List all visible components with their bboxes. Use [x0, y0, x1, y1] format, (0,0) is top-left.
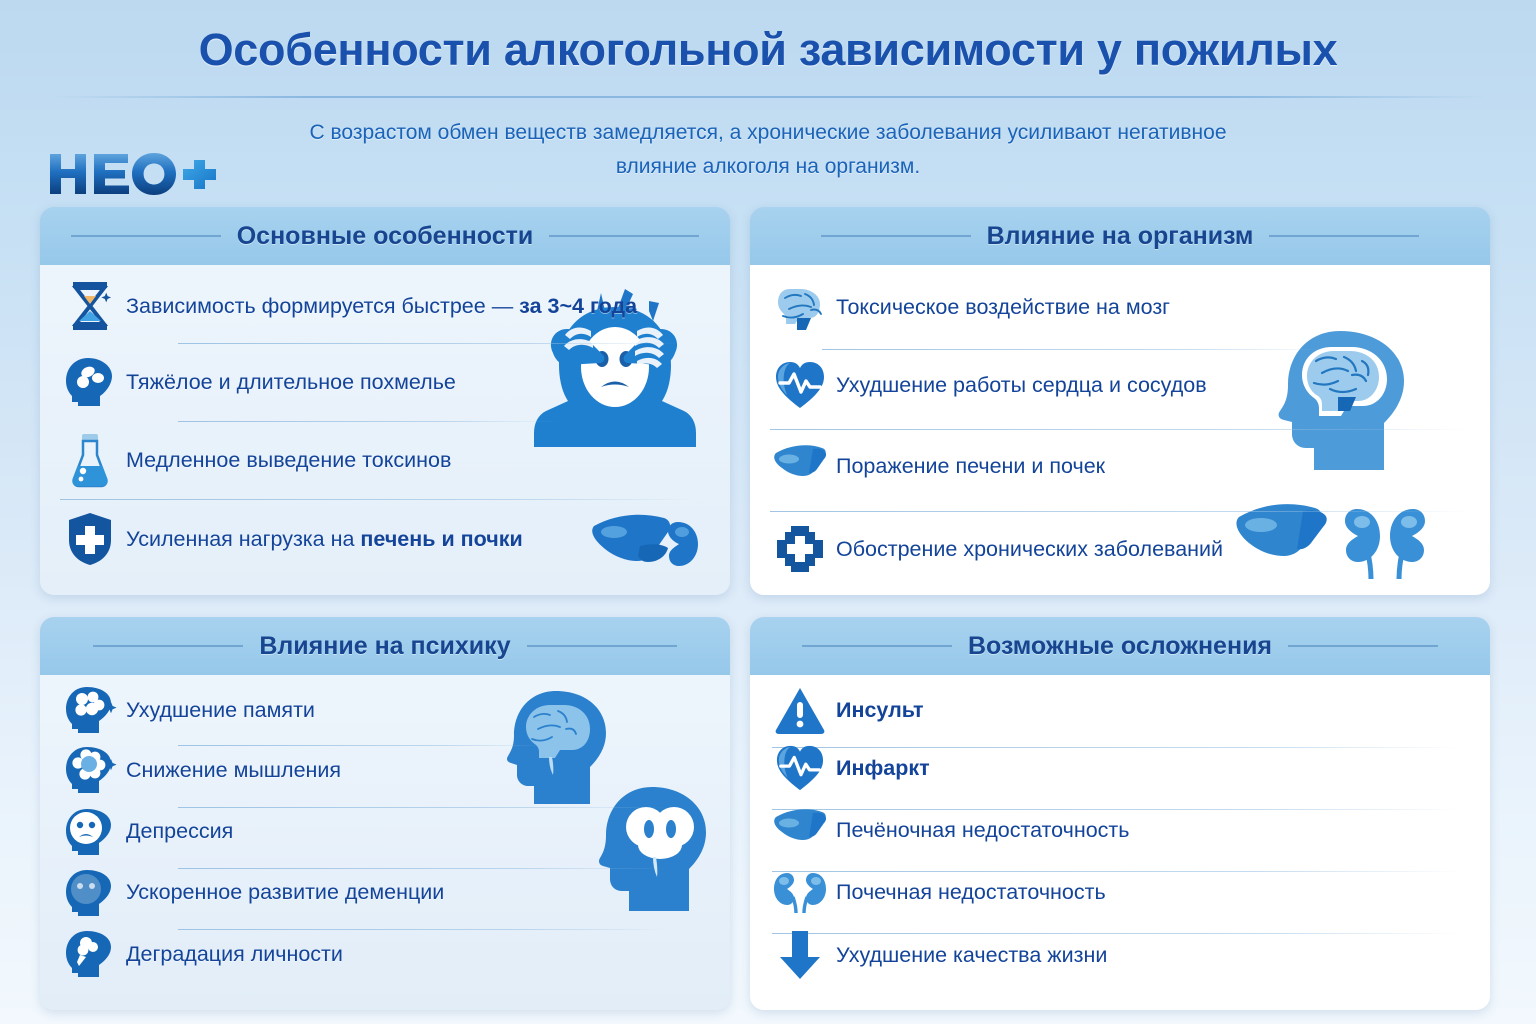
list-item: Поражение печени и почек — [750, 425, 1490, 507]
card-header: Влияние на организм — [750, 207, 1490, 265]
down-arrow-icon — [772, 927, 828, 983]
list-item-label: Снижение мышления — [126, 758, 341, 783]
header-rule-left — [821, 235, 971, 237]
card-body: Инсульт Инфаркт — [750, 675, 1490, 1010]
list-item-label: Токсическое воздействие на мозг — [836, 295, 1170, 320]
list-item-label: Инсульт — [836, 698, 924, 723]
list-item-label: Ухудшение качества жизни — [836, 943, 1107, 968]
head-degradation-icon — [62, 926, 118, 982]
feature-list: Инсульт Инфаркт — [750, 675, 1490, 987]
shield-cross-icon — [62, 511, 118, 567]
header-rule-right — [1269, 235, 1419, 237]
heart-pulse-icon — [772, 357, 828, 413]
medical-cross-icon — [772, 521, 828, 577]
header-rule-left — [93, 645, 243, 647]
flask-icon — [62, 432, 118, 488]
list-item: Деградация личности — [40, 923, 730, 985]
list-item: Обострение хронических заболеваний — [750, 507, 1490, 591]
page-subtitle: С возрастом обмен веществ замедляется, а… — [268, 116, 1268, 184]
card-header: Влияние на психику — [40, 617, 730, 675]
list-item: Ухудшение качества жизни — [750, 923, 1490, 987]
neo-plus-logo — [48, 150, 218, 198]
warning-triangle-icon — [772, 682, 828, 738]
list-item-label: Обострение хронических заболеваний — [836, 537, 1223, 562]
liver-icon — [772, 802, 828, 858]
list-item-label: Депрессия — [126, 819, 233, 844]
head-dementia-icon — [62, 865, 118, 921]
list-item: Печёночная недостаточность — [750, 799, 1490, 861]
card-psyche-effects: Влияние на психику — [40, 617, 730, 1010]
header-rule-right — [527, 645, 677, 647]
card-body-effects: Влияние на организм — [750, 207, 1490, 595]
card-header: Основные особенности — [40, 207, 730, 265]
list-item: Инсульт — [750, 675, 1490, 737]
card-title: Влияние на психику — [259, 632, 510, 661]
list-item-label: Печёночная недостаточность — [836, 818, 1129, 843]
card-body: Зависимость формируется быстрее — за 3~4… — [40, 265, 730, 595]
list-item-label: Ухудшение работы сердца и сосудов — [836, 373, 1207, 398]
head-pills-icon — [62, 354, 118, 410]
brain-icon — [772, 279, 828, 335]
list-item: Зависимость формируется быстрее — за 3~4… — [40, 265, 730, 343]
list-item-label: Поражение печени и почек — [836, 454, 1105, 479]
list-item: Ускоренное развитие деменции — [40, 862, 730, 923]
header-rule-right — [1288, 645, 1438, 647]
infographic-root: Особенности алкогольной зависимости у по… — [0, 0, 1536, 1024]
feature-list: Токсическое воздействие на мозг Ухудшени… — [750, 265, 1490, 591]
header-rule-right — [549, 235, 699, 237]
card-title: Основные особенности — [237, 222, 534, 251]
card-title: Влияние на организм — [987, 222, 1254, 251]
feature-list: Ухудшение памяти — [40, 675, 730, 985]
card-body: Ухудшение памяти — [40, 675, 730, 1010]
header-rule-left — [802, 645, 952, 647]
list-item-label: Почечная недостаточность — [836, 880, 1106, 905]
header-rule-left — [71, 235, 221, 237]
list-item-label: Ускоренное развитие деменции — [126, 880, 444, 905]
list-item-label: Зависимость формируется быстрее — за 3~4… — [126, 294, 637, 319]
card-title: Возможные осложнения — [968, 632, 1272, 661]
card-complications: Возможные осложнения Инсульт — [750, 617, 1490, 1010]
head-thinking-icon — [62, 742, 118, 798]
list-item: Инфаркт — [750, 737, 1490, 799]
list-item: Снижение мышления — [40, 739, 730, 801]
list-item-label: Тяжёлое и длительное похмелье — [126, 370, 456, 395]
list-item: Усиленная нагрузка на печень и почки — [40, 499, 730, 579]
heart-pulse-icon — [772, 740, 828, 796]
head-memory-icon — [62, 682, 118, 738]
list-item-label: Инфаркт — [836, 756, 930, 781]
liver-icon — [772, 438, 828, 494]
list-item: Тяжёлое и длительное похмелье — [40, 343, 730, 421]
list-item: Почечная недостаточность — [750, 861, 1490, 923]
list-item-label: Усиленная нагрузка на печень и почки — [126, 527, 523, 552]
list-item: Ухудшение работы сердца и сосудов — [750, 345, 1490, 425]
hourglass-icon — [62, 278, 118, 334]
list-item: Токсическое воздействие на мозг — [750, 265, 1490, 345]
kidneys-icon — [772, 864, 828, 920]
card-header: Возможные осложнения — [750, 617, 1490, 675]
list-item-label: Медленное выведение токсинов — [126, 448, 451, 473]
list-item: Медленное выведение токсинов — [40, 421, 730, 499]
feature-list: Зависимость формируется быстрее — за 3~4… — [40, 265, 730, 579]
card-main-features: Основные особенности — [40, 207, 730, 595]
list-item: Ухудшение памяти — [40, 675, 730, 739]
list-item: Депрессия — [40, 801, 730, 862]
page-title: Особенности алкогольной зависимости у по… — [0, 24, 1536, 76]
list-item-label: Деградация личности — [126, 942, 343, 967]
list-item-label: Ухудшение памяти — [126, 698, 315, 723]
card-body: Токсическое воздействие на мозг Ухудшени… — [750, 265, 1490, 595]
title-divider — [46, 96, 1490, 98]
head-sad-icon — [62, 804, 118, 860]
